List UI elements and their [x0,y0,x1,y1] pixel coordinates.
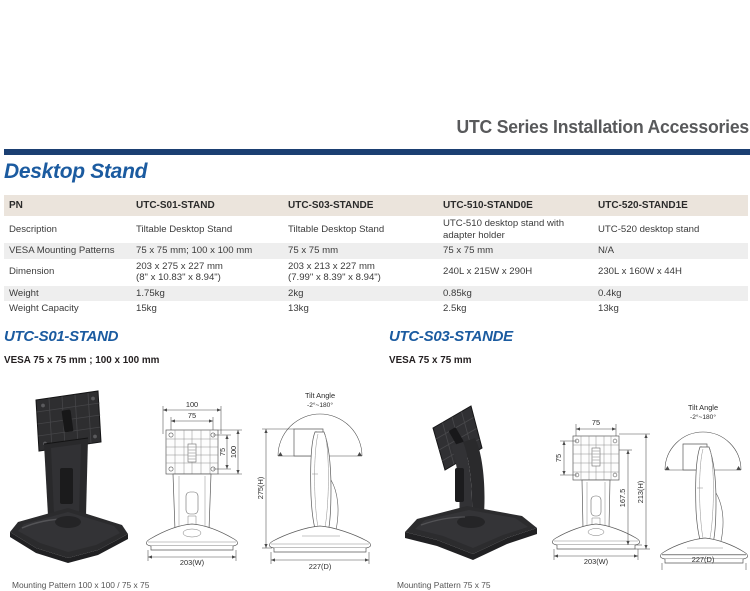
tilt-angle-value: -2°~180° [307,401,333,409]
table-row: Weight 1.75kg 2kg 0.85kg 0.4kg [4,286,748,302]
row-label: VESA Mounting Patterns [4,243,131,259]
dim-height: 275(H) [256,477,265,500]
dim-167: 167.5 [618,489,627,508]
cell-value: 2.5kg [438,301,593,317]
figure-row-s01: 100 75 [0,382,385,578]
cell-value: 75 x 75 mm [438,243,593,259]
cell-value: 0.85kg [438,286,593,302]
drawing-side-s01: Tilt Angle -2°~180° [252,384,385,574]
table-row: Dimension 203 x 275 x 227 mm(8" x 10.83"… [4,259,748,286]
tilt-angle-label: Tilt Angle [688,403,718,412]
dim-75-top: 75 [188,411,196,420]
figure-row-s03: 75 [385,382,750,578]
cell-value: 2kg [283,286,438,302]
column-header-520: UTC-520-STAND1E [593,195,748,216]
dim-75-top: 75 [592,418,600,427]
product-block-s01: UTC-S01-STAND VESA 75 x 75 mm ; 100 x 10… [4,328,169,366]
dim-width: 203(W) [180,558,204,567]
cell-value: 203 x 213 x 227 mm(7.99" x 8.39" x 8.94"… [283,259,438,286]
column-header-510: UTC-510-STAND0E [438,195,593,216]
header-divider [4,149,750,155]
product-vesa-spec: VESA 75 x 75 mm [389,354,505,366]
document-header: UTC Series Installation Accessories [0,112,750,142]
product-block-s03: UTC-S03-STANDE VESA 75 x 75 mm [389,328,513,366]
cell-value: UTC-520 desktop stand [593,216,748,243]
product-name: UTC-S03-STANDE [389,328,513,345]
dim-75-side: 75 [554,454,563,462]
dim-213: 213(H) [636,481,645,504]
column-header-s03: UTC-S03-STANDE [283,195,438,216]
cell-value: 203 x 275 x 227 mm(8" x 10.83" x 8.94") [131,259,283,286]
tilt-angle-value: -2°~180° [690,413,716,421]
row-label: Description [4,216,131,243]
row-label: Weight [4,286,131,302]
cell-value: Tiltable Desktop Stand [283,216,438,243]
dim-depth: 227(D) [692,555,715,564]
row-label: Dimension [4,259,131,286]
product-photo-s01 [2,382,134,568]
cell-value: 75 x 75 mm; 100 x 100 mm [131,243,283,259]
cell-value: 13kg [593,301,748,317]
cell-value: 240L x 215W x 290H [438,259,593,286]
row-label: Weight Capacity [4,301,131,317]
column-header-pn: PN [4,195,131,216]
page-root: UTC Series Installation Accessories Desk… [0,0,750,591]
product-vesa-spec: VESA 75 x 75 mm ; 100 x 100 mm [4,354,159,366]
cell-value: 15kg [131,301,283,317]
drawing-front-s03: 75 [540,414,656,572]
dim-75-side: 75 [218,448,227,456]
drawing-side-s03: Tilt Angle -2°~180° [653,394,750,572]
table-body: Description Tiltable Desktop Stand Tilta… [4,216,748,317]
column-header-s01: UTC-S01-STAND [131,195,283,216]
cell-value: N/A [593,243,748,259]
tilt-angle-label: Tilt Angle [305,391,335,400]
cell-value: UTC-510 desktop stand with adapter holde… [438,216,593,243]
product-photo-s03 [389,386,547,568]
dim-100-top: 100 [186,400,198,409]
cell-value: Tiltable Desktop Stand [131,216,283,243]
product-name: UTC-S01-STAND [4,328,169,345]
dim-100-side: 100 [229,446,238,458]
cell-value: 75 x 75 mm [283,243,438,259]
table-row: VESA Mounting Patterns 75 x 75 mm; 100 x… [4,243,748,259]
cell-value: 1.75kg [131,286,283,302]
figure-caption-s01: Mounting Pattern 100 x 100 / 75 x 75 [12,580,149,590]
dim-depth: 227(D) [309,562,332,571]
section-title: Desktop Stand [4,160,147,184]
table-row: Description Tiltable Desktop Stand Tilta… [4,216,748,243]
spec-table: PN UTC-S01-STAND UTC-S03-STANDE UTC-510-… [4,195,748,317]
page-title: UTC Series Installation Accessories [456,116,750,138]
drawing-front-s01: 100 75 [132,384,252,574]
table-header-row: PN UTC-S01-STAND UTC-S03-STANDE UTC-510-… [4,195,748,216]
figure-caption-s03: Mounting Pattern 75 x 75 [397,580,491,590]
cell-value: 0.4kg [593,286,748,302]
cell-value: 230L x 160W x 44H [593,259,748,286]
table-row: Weight Capacity 15kg 13kg 2.5kg 13kg [4,301,748,317]
dim-width: 203(W) [584,557,608,566]
cell-value: 13kg [283,301,438,317]
